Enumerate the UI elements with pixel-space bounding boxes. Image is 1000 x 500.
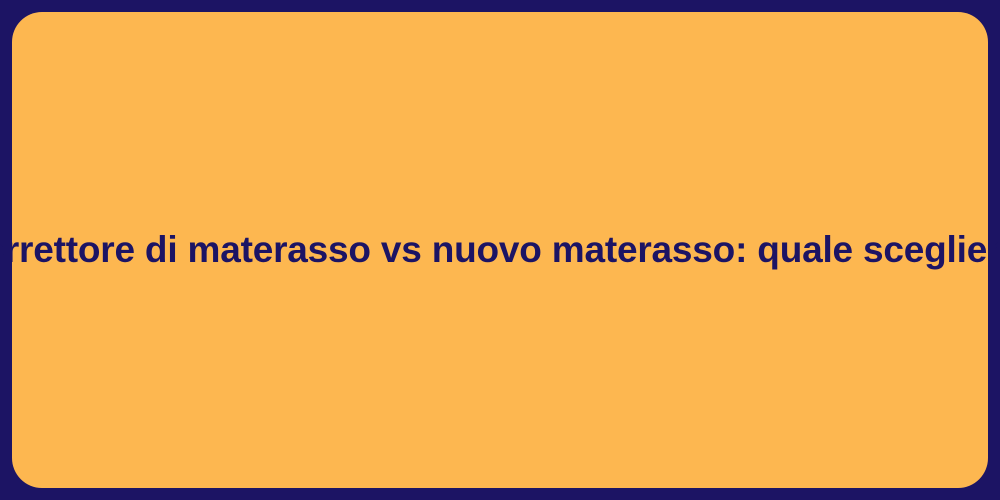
banner-headline: Correttore di materasso vs nuovo materas… (0, 227, 1000, 273)
banner-content-panel: Correttore di materasso vs nuovo materas… (12, 12, 988, 488)
banner-canvas: Correttore di materasso vs nuovo materas… (0, 0, 1000, 500)
